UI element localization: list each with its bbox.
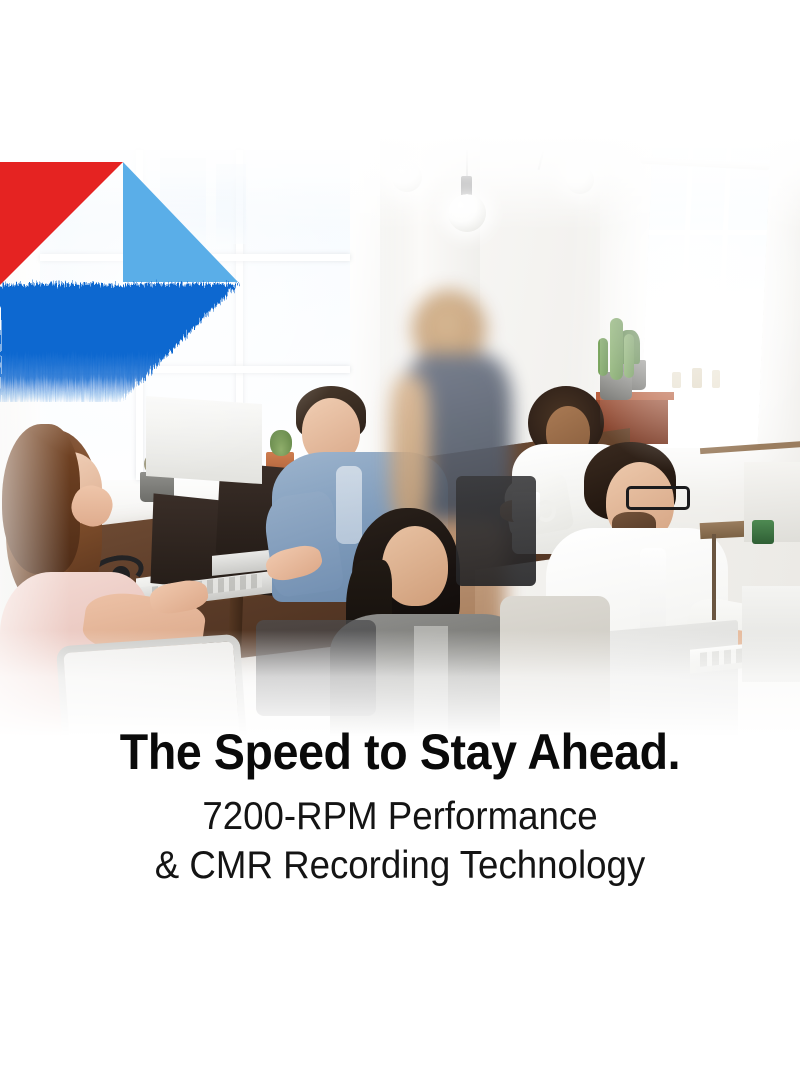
potted-plant	[270, 430, 292, 456]
product-feature-banner: The Speed to Stay Ahead. 7200-RPM Perfor…	[0, 0, 800, 1090]
text-block: The Speed to Stay Ahead. 7200-RPM Perfor…	[0, 726, 800, 891]
pendant-socket	[461, 176, 472, 196]
green-box	[752, 520, 774, 544]
logo-blue-arrow	[0, 284, 238, 402]
arm	[261, 490, 344, 599]
cactus	[610, 318, 623, 380]
pendant-bulb-icon	[392, 162, 422, 192]
sill-ornament	[692, 368, 702, 388]
brand-arrow-logo	[0, 162, 240, 402]
pendant-bulb-icon	[448, 194, 486, 232]
sill-ornament	[672, 372, 681, 388]
office-chair	[256, 620, 376, 716]
eyeglasses-icon	[626, 486, 690, 510]
cactus-arm	[598, 338, 608, 376]
headline: The Speed to Stay Ahead.	[28, 726, 772, 779]
monitor-back	[146, 396, 262, 484]
logo-red-triangle	[0, 162, 123, 285]
bench-leg	[712, 534, 716, 620]
pendant-bulb-icon	[566, 166, 594, 194]
monitor-back	[742, 586, 800, 682]
subtitle-line-1: 7200-RPM Performance	[24, 793, 776, 842]
subtitle-line-2: & CMR Recording Technology	[24, 842, 776, 891]
window-mullion-horizontal	[645, 316, 763, 321]
window-mullion-horizontal	[649, 230, 767, 235]
sill-ornament	[712, 370, 720, 388]
office-chair	[456, 476, 536, 586]
pendant-cord	[466, 150, 468, 178]
shirt-placket	[336, 466, 362, 544]
cactus-arm	[624, 334, 634, 378]
mug-handle	[536, 500, 556, 522]
subtitle: 7200-RPM Performance & CMR Recording Tec…	[24, 793, 776, 891]
logo-light-blue-triangle	[123, 162, 238, 282]
